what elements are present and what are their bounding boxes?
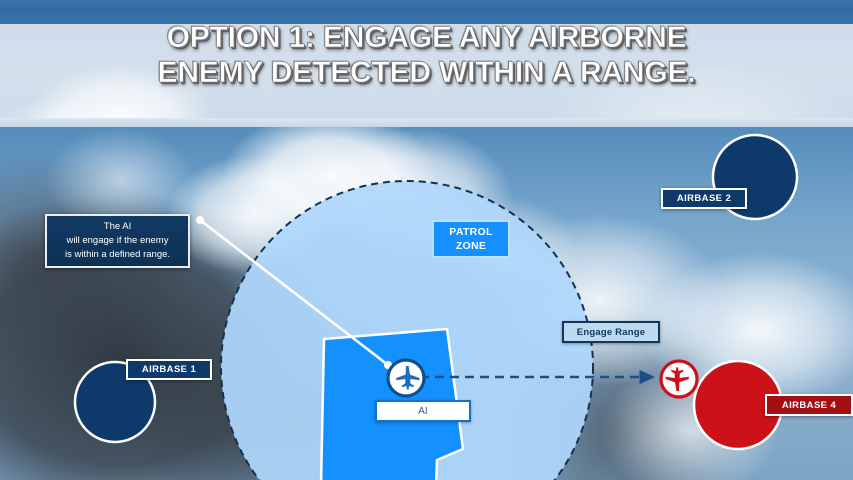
patrol-zone-label: PATROL ZONE: [432, 220, 510, 258]
diagram-svg: [0, 127, 853, 480]
page-title: OPTION 1: ENGAGE ANY AIRBORNE ENEMY DETE…: [0, 20, 853, 91]
ai-behaviour-callout: The AI will engage if the enemy is withi…: [45, 214, 190, 268]
airbase-2-label: AIRBASE 2: [661, 188, 747, 209]
engage-range-label: Engage Range: [562, 321, 660, 343]
callout-line-2: will engage if the enemy: [67, 234, 169, 248]
page-title-line-2: ENEMY DETECTED WITHIN A RANGE.: [0, 55, 853, 90]
top-accent-bar: [0, 0, 853, 12]
diagram-canvas: [0, 127, 853, 480]
airbase-1-label: AIRBASE 1: [126, 359, 212, 380]
page-title-line-1: OPTION 1: ENGAGE ANY AIRBORNE: [0, 20, 853, 55]
patrol-zone-label-line-1: PATROL: [449, 225, 492, 239]
airbase-4-label: AIRBASE 4: [765, 394, 853, 416]
ai-label: AI: [375, 400, 471, 422]
patrol-zone-label-line-2: ZONE: [456, 239, 486, 253]
ai-jet-marker[interactable]: [388, 360, 424, 396]
callout-line-3: is within a defined range.: [65, 248, 170, 262]
slide-root: OPTION 1: ENGAGE ANY AIRBORNE ENEMY DETE…: [0, 0, 853, 480]
callout-line-1: The AI: [104, 220, 131, 234]
callout-leader-start-dot: [196, 216, 204, 224]
enemy-jet-marker[interactable]: [661, 361, 697, 397]
banner-bottom-strip: [0, 118, 853, 127]
